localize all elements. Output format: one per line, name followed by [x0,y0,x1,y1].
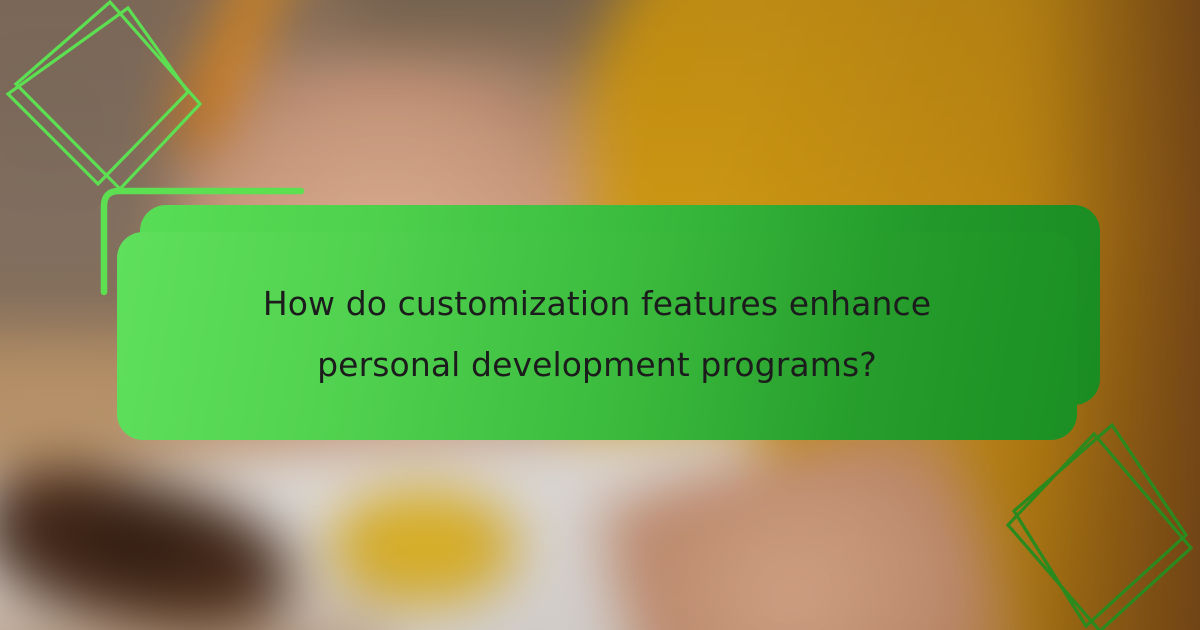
question-line-1: How do customization features enhance [187,273,1007,334]
question-line-2: personal development programs? [187,334,1007,395]
question-card[interactable]: How do customization features enhance pe… [117,232,1077,440]
promo-card-canvas: How do customization features enhance pe… [0,0,1200,630]
question-text: How do customization features enhance pe… [117,273,1077,396]
